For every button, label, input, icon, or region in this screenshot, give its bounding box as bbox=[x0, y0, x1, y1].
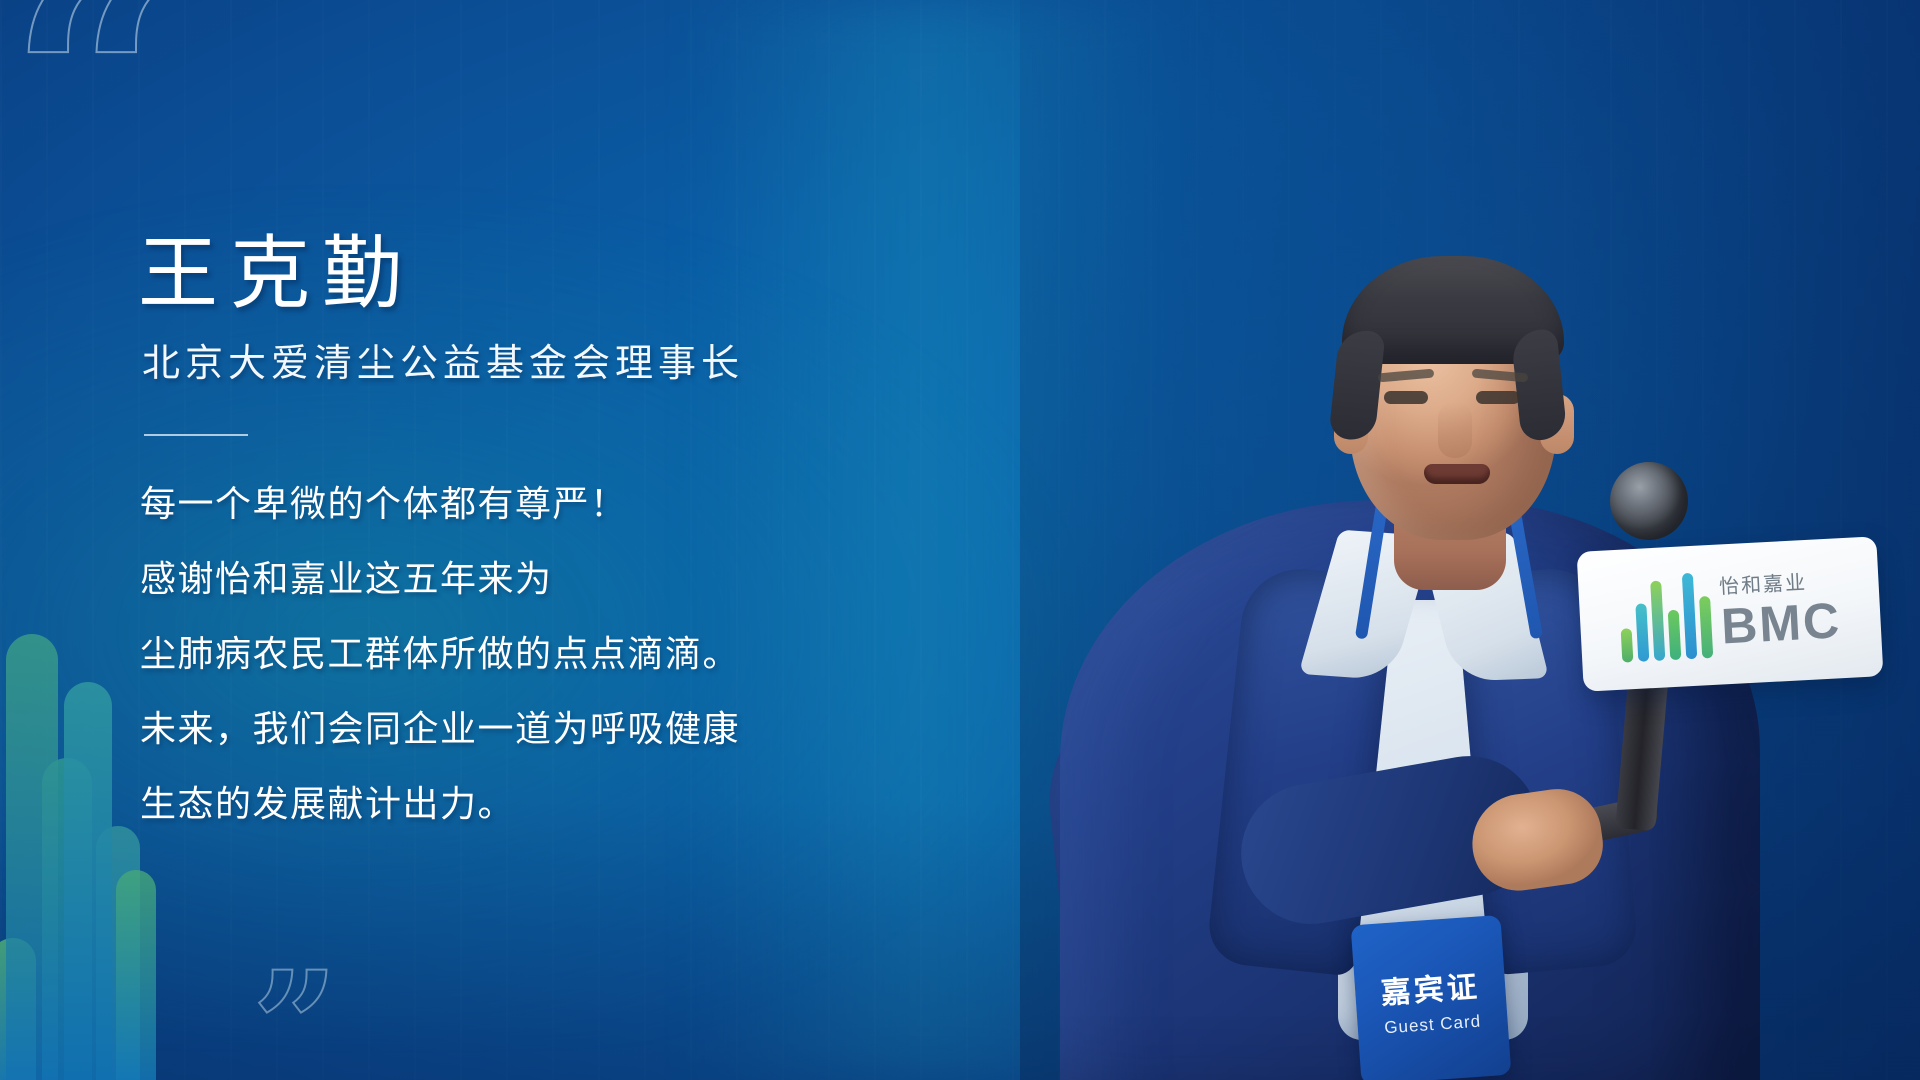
bmc-logo-bar bbox=[1699, 596, 1713, 658]
speaker-photo: 健康 · 新境 怡和嘉业 BMC bbox=[1020, 0, 1920, 1080]
guest-badge: 嘉宾证 Guest Card bbox=[1351, 915, 1512, 1080]
speaker-text-block: 王克勤 北京大爱清尘公益基金会理事长 每一个卑微的个体都有尊严！感谢怡和嘉业这五… bbox=[138, 232, 958, 822]
speaker-mouth bbox=[1424, 464, 1490, 484]
bmc-brand-en: BMC bbox=[1720, 595, 1842, 651]
quote-open-icon: “ bbox=[8, 0, 181, 234]
quote-line: 感谢怡和嘉业这五年来为 bbox=[140, 561, 958, 597]
bmc-logo-bar bbox=[1650, 581, 1665, 661]
microphone-flag-logo-panel: 怡和嘉业 BMC bbox=[1577, 536, 1884, 692]
bmc-logo-bar bbox=[1667, 610, 1681, 661]
quote-close-icon: ” bbox=[252, 952, 338, 1080]
quote-line: 每一个卑微的个体都有尊严！ bbox=[140, 486, 958, 522]
title-divider bbox=[144, 434, 248, 436]
waveform-bar bbox=[6, 634, 58, 1080]
guest-badge-title-cn: 嘉宾证 bbox=[1379, 962, 1481, 1013]
bmc-brand-text: 怡和嘉业 BMC bbox=[1719, 571, 1843, 651]
speaker-title: 北京大爱清尘公益基金会理事长 bbox=[142, 342, 958, 388]
presentation-slide: “ ” 王克勤 北京大爱清尘公益基金会理事长 每一个卑微的个体都有尊严！感谢怡和… bbox=[0, 0, 1920, 1080]
speaker-name: 王克勤 bbox=[138, 232, 958, 316]
quote-line: 尘肺病农民工群体所做的点点滴滴。 bbox=[140, 636, 958, 672]
bmc-logo-bar bbox=[1620, 628, 1633, 663]
speaker-eye-left bbox=[1384, 391, 1428, 404]
bmc-logo-icon bbox=[1617, 572, 1712, 663]
bmc-logo-bar bbox=[1681, 573, 1696, 659]
waveform-bar bbox=[64, 682, 112, 1080]
speaker-nose bbox=[1438, 402, 1472, 458]
microphone-head-icon bbox=[1610, 462, 1688, 540]
speaker-eye-right bbox=[1476, 391, 1520, 404]
guest-badge-title-en: Guest Card bbox=[1384, 1012, 1482, 1039]
quote-line: 生态的发展献计出力。 bbox=[140, 786, 958, 822]
quote-line: 未来，我们会同企业一道为呼吸健康 bbox=[140, 711, 958, 747]
waveform-bar bbox=[116, 870, 156, 1080]
bmc-logo-bar bbox=[1635, 603, 1649, 661]
quote-body: 每一个卑微的个体都有尊严！感谢怡和嘉业这五年来为尘肺病农民工群体所做的点点滴滴。… bbox=[140, 486, 958, 822]
